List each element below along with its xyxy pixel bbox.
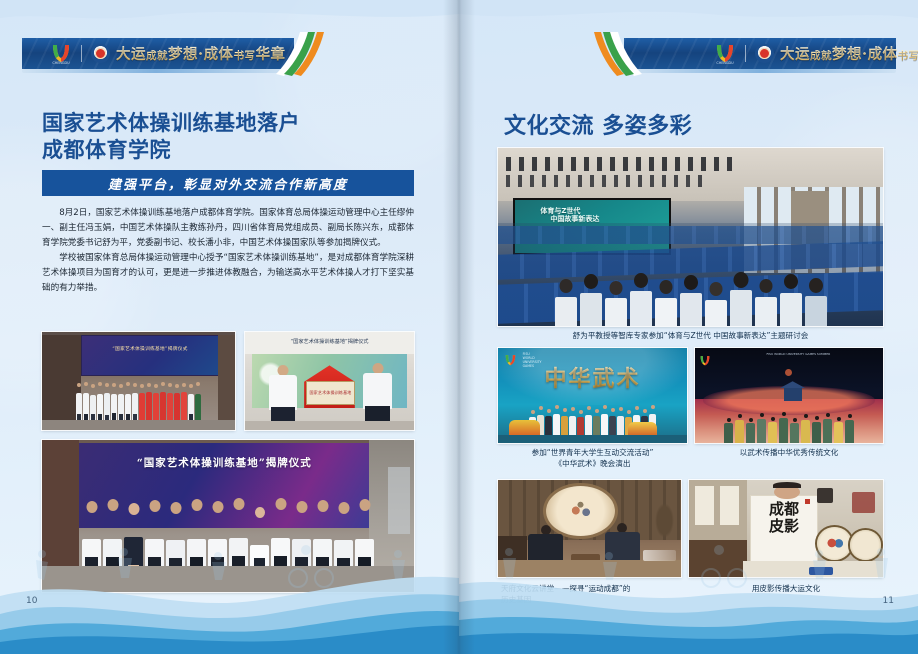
cdsu-emblem-icon-right: [755, 44, 774, 63]
photo3-screen-text: “国家艺术体操训练基地”揭牌仪式: [83, 455, 366, 471]
photo-wushu-gala: FISUWORLDUNIVERSITYGAMES 中华武术: [498, 348, 687, 443]
left-header-banner: CHENGDU 大运成就梦想·成体书写华章: [22, 38, 322, 74]
wushu-stage-logo-text: FISU WORLD UNIVERSITY GAMES SUMMER: [766, 353, 830, 357]
photo2-plaque-text: 国家艺术体操训练基地: [309, 390, 351, 396]
right-page: CHENGDU 大运成就梦想·成体书写华章 文化交流 多姿多彩: [459, 0, 918, 654]
banner-underline: [22, 69, 290, 73]
logo-divider: [81, 45, 82, 62]
photo-wushu-stage: FISU WORLD UNIVERSITY GAMES SUMMER: [695, 348, 883, 443]
caption-tianfu-lecture: 天府文化云讲堂——探寻“运动成都”的 历史基因: [501, 584, 691, 605]
photo-group-outdoor-large: “国家艺术体操训练基地”揭牌仪式: [42, 440, 414, 592]
cdsu-emblem-icon: [91, 44, 110, 63]
shadow-puppet-scroll-text: 成都皮影: [767, 501, 802, 563]
photo2-screen-text: “国家艺术体操训练基地”揭牌仪式: [255, 336, 404, 348]
caption-wushu-gala-line-1: 参加“世界青年大学生互动交流活动”: [498, 448, 687, 459]
left-page-sub-banner: 建强平台，彰显对外交流合作新高度: [42, 170, 414, 196]
tricolor-ribbon-icon: [270, 32, 326, 76]
caption-tianfu-line-2: 历史基因: [501, 595, 691, 606]
headline-line-2: 成都体育学院: [42, 137, 412, 164]
right-page-number: 11: [883, 596, 894, 606]
tricolor-ribbon-icon-right: [592, 32, 648, 76]
left-page-headline: 国家艺术体操训练基地落户 成都体育学院: [42, 110, 412, 164]
banner-underline-right: [628, 69, 896, 73]
photo-shadow-puppet: 成都皮影: [689, 480, 883, 577]
page-gutter-shadow: [443, 0, 475, 654]
left-page-body: 8月2日，国家艺术体操训练基地落户成都体育学院。国家体育总局体操运动管理中心主任…: [42, 206, 414, 297]
svg-text:CHENGDU: CHENGDU: [52, 61, 70, 64]
banner-content: CHENGDU 大运成就梦想·成体书写华章: [50, 38, 286, 69]
caption-tianfu-line-1: 天府文化云讲堂——探寻“运动成都”的: [501, 584, 691, 595]
forum-audience-front: [498, 265, 883, 326]
left-page: CHENGDU 大运成就梦想·成体书写华章 国家艺术体操训练基地落户 成都体育学…: [0, 0, 459, 654]
left-page-number: 10: [26, 596, 37, 606]
banner-title-right: 大运成就梦想·成体书写华章: [780, 43, 918, 64]
right-header-banner: CHENGDU 大运成就梦想·成体书写华章: [596, 38, 896, 74]
photo-forum-hall: 体育与Z世代 中国故事新表达: [498, 148, 883, 326]
wushu-gala-screen-text: 中华武术: [498, 363, 687, 395]
caption-wushu-stage: 以武术传播中华优秀传统文化: [695, 448, 883, 459]
chengdu-universiade-u-logo-icon-right: CHENGDU: [714, 43, 736, 64]
photo1-screen-text: “国家艺术体操训练基地”揭牌仪式: [84, 345, 215, 354]
caption-wushu-gala-line-2: 《中华武术》晚会演出: [498, 459, 687, 470]
sub-banner-text: 建强平台，彰显对外交流合作新高度: [108, 174, 348, 193]
body-paragraph-1: 8月2日，国家艺术体操训练基地落户成都体育学院。国家体育总局体操运动管理中心主任…: [42, 206, 414, 250]
banner-title: 大运成就梦想·成体书写华章: [116, 43, 286, 64]
magazine-spread: CHENGDU 大运成就梦想·成体书写华章 国家艺术体操训练基地落户 成都体育学…: [0, 0, 918, 654]
right-page-headline: 文化交流 多姿多彩: [504, 112, 844, 140]
svg-text:CHENGDU: CHENGDU: [716, 61, 734, 64]
photo-plaque-unveiling: “国家艺术体操训练基地”揭牌仪式 国家艺术体操训练基地: [245, 332, 414, 430]
logo-divider-right: [745, 45, 746, 62]
caption-wushu-gala: 参加“世界青年大学生互动交流活动” 《中华武术》晚会演出: [498, 448, 687, 469]
banner-content-right: CHENGDU 大运成就梦想·成体书写华章: [714, 38, 918, 69]
photo-tianfu-lecture: [498, 480, 681, 577]
headline-line-1: 国家艺术体操训练基地落户: [42, 110, 412, 137]
photo-group-outdoor-small: “国家艺术体操训练基地”揭牌仪式: [42, 332, 235, 430]
caption-shadow-puppet: 用皮影传播大运文化: [689, 584, 883, 595]
chengdu-universiade-u-logo-icon: CHENGDU: [50, 43, 72, 64]
body-paragraph-2: 学校被国家体育总局体操运动管理中心授予“国家艺术体操训练基地”，是对成都体育学院…: [42, 251, 414, 295]
caption-forum: 舒为平教授等智库专家参加“体育与Z世代 中国故事新表达”主题研讨会: [498, 331, 883, 342]
wushu-stage-performers: [695, 409, 883, 443]
